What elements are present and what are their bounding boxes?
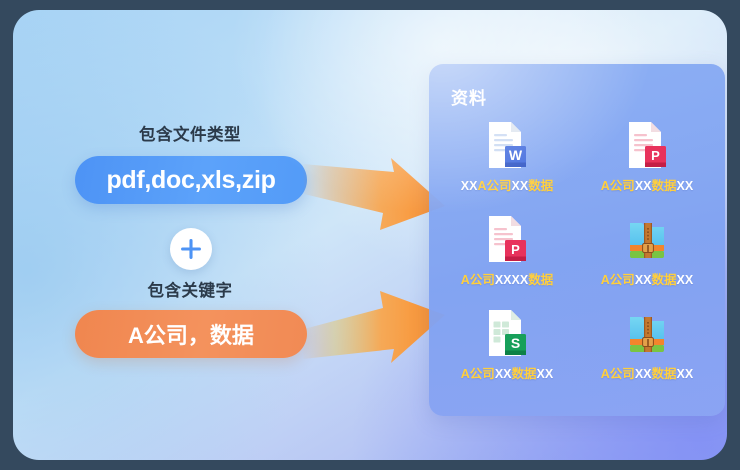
file-label-part: 数据 (528, 179, 553, 193)
file-item[interactable]: P A公司XX数据XX (577, 116, 717, 210)
file-label: A公司XX数据XX (601, 363, 693, 382)
file-label: A公司XX数据XX (601, 269, 693, 288)
file-label-part: 数据 (652, 367, 677, 381)
file-label-part: A公司 (601, 367, 635, 381)
zip-file-icon (625, 214, 669, 264)
file-label-part: XX (635, 367, 652, 381)
file-item[interactable]: P A公司XXXX数据 (437, 210, 577, 304)
file-label-part: XX (512, 179, 529, 193)
arrow-filetype-to-results (302, 150, 448, 245)
file-label-part: XXXX (495, 273, 528, 287)
file-label: A公司XX数据XX (461, 363, 553, 382)
file-label-part: A公司 (601, 273, 635, 287)
file-label-part: A公司 (477, 179, 511, 193)
svg-text:S: S (511, 335, 520, 351)
file-label-part: XX (635, 179, 652, 193)
filetype-caption: 包含文件类型 (60, 121, 320, 145)
illustration-card: 包含文件类型 pdf,doc,xls,zip 包含关键字 A公司，数据 (13, 10, 727, 460)
file-label-part: XX (537, 367, 554, 381)
file-label: A公司XXXX数据 (461, 269, 553, 288)
excel-file-icon: S (485, 308, 529, 358)
results-panel: 资料 (429, 64, 725, 416)
pdf-file-icon: P (625, 120, 669, 170)
file-item[interactable]: W XXA公司XX数据 (437, 116, 577, 210)
pdf-file-icon: P (485, 214, 529, 264)
svg-text:W: W (509, 147, 523, 163)
file-label: A公司XX数据XX (601, 175, 693, 194)
file-label: XXA公司XX数据 (461, 175, 553, 194)
arrow-keyword-to-results (302, 282, 448, 377)
panel-title: 资料 (451, 84, 487, 109)
file-label-part: A公司 (461, 367, 495, 381)
file-item[interactable]: A公司XX数据XX (577, 210, 717, 304)
file-label-part: 数据 (528, 273, 553, 287)
keyword-caption: 包含关键字 (60, 277, 320, 301)
file-label-part: 数据 (652, 273, 677, 287)
file-item[interactable]: A公司XX数据XX (577, 304, 717, 398)
file-label-part: 数据 (512, 367, 537, 381)
svg-text:P: P (511, 242, 520, 257)
keyword-pill[interactable]: A公司，数据 (75, 310, 307, 358)
file-label-part: XX (677, 273, 694, 287)
word-file-icon: W (485, 120, 529, 170)
file-label-part: A公司 (461, 273, 495, 287)
screenshot-root: 包含文件类型 pdf,doc,xls,zip 包含关键字 A公司，数据 (0, 0, 740, 470)
zip-file-icon (625, 308, 669, 358)
plus-icon[interactable] (170, 228, 212, 270)
file-label-part: 数据 (652, 179, 677, 193)
file-item[interactable]: S A公司XX数据XX (437, 304, 577, 398)
file-label-part: XX (495, 367, 512, 381)
file-label-part: XX (635, 273, 652, 287)
file-label-part: A公司 (601, 179, 635, 193)
file-label-part: XX (677, 179, 694, 193)
svg-text:P: P (651, 148, 660, 163)
file-label-part: XX (461, 179, 478, 193)
file-grid: W XXA公司XX数据 (437, 116, 717, 398)
file-label-part: XX (677, 367, 694, 381)
filetype-pill[interactable]: pdf,doc,xls,zip (75, 156, 307, 204)
